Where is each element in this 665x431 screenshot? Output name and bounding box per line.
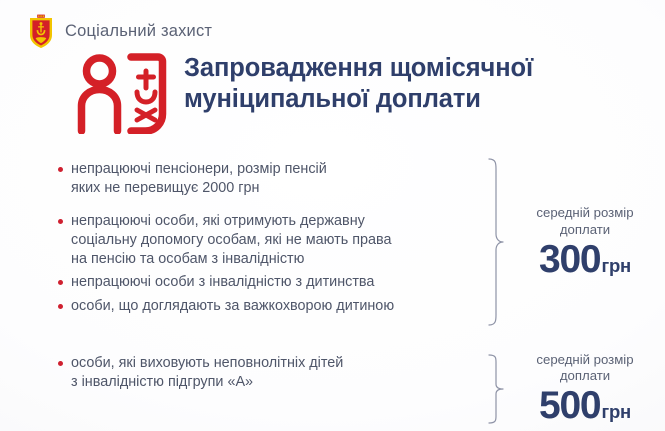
bullet-dot-icon [58,280,63,285]
brand-row: Соціальний захист [28,14,212,48]
amount-callout-1: середній розмір доплати 300 грн [508,158,658,326]
amount-currency-unit: грн [601,257,631,276]
list-item-label: особи, які виховують неповнолітніх дітей… [71,354,482,393]
curly-brace-icon [486,354,504,424]
list-item: непрацюючі особи, які отримують державну… [58,212,482,270]
brace-wrapper-1 [482,158,508,326]
amount-number: 500 [539,386,600,425]
list-item-label: непрацюючі пенсіонери, розмір пенсій яки… [71,160,482,199]
list-item: особи, які виховують неповнолітніх дітей… [58,354,482,393]
infographic-poster: Соціальний захист Запровадження щомісячн… [0,0,665,431]
amount-caption: середній розмір доплати [536,352,633,384]
benefit-group-2: особи, які виховують неповнолітніх дітей… [58,352,658,425]
amount-currency-unit: грн [601,403,631,422]
eligibility-list-2: особи, які виховують неповнолітніх дітей… [58,352,482,425]
amount-caption: середній розмір доплати [536,205,633,237]
bullet-dot-icon [58,304,63,309]
amount-value: 300 грн [539,240,631,279]
amount-value: 500 грн [539,386,631,425]
amount-callout-2: середній розмір доплати 500 грн [508,352,658,425]
list-item: непрацюючі особи з інвалідністю з дитинс… [58,273,482,292]
list-item-label: непрацюючі особи з інвалідністю з дитинс… [71,273,482,292]
curly-brace-icon [486,158,504,326]
person-and-document-icon [76,52,168,134]
eligibility-list-1: непрацюючі пенсіонери, розмір пенсій яки… [58,158,482,326]
vinnytsia-coat-of-arms-icon [28,14,54,48]
list-item: непрацюючі пенсіонери, розмір пенсій яки… [58,160,482,199]
benefit-group-1: непрацюючі пенсіонери, розмір пенсій яки… [58,158,658,326]
bullet-dot-icon [58,219,63,224]
list-item-label: непрацюючі особи, які отримують державну… [71,212,482,270]
bullet-dot-icon [58,167,63,172]
brace-wrapper-2 [482,352,508,425]
amount-number: 300 [539,240,600,279]
list-item-label: особи, що доглядають за важкохворою дити… [71,297,482,316]
list-item: особи, що доглядають за важкохворою дити… [58,297,482,316]
eyebrow-label: Соціальний захист [65,22,212,41]
title-block: Запровадження щомісячної муніципальної д… [76,50,533,134]
bullet-dot-icon [58,361,63,366]
page-title: Запровадження щомісячної муніципальної д… [184,50,533,114]
